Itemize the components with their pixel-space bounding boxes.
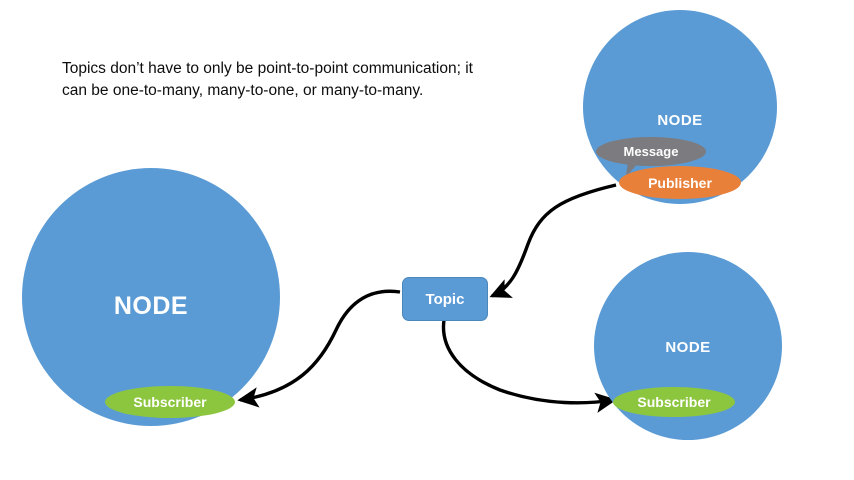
- node-bottom-right-label: NODE: [594, 339, 782, 356]
- subscriber-bottom-right[interactable]: Subscriber: [613, 387, 735, 417]
- node-left-label: NODE: [22, 292, 280, 321]
- subscriber-left[interactable]: Subscriber: [105, 386, 235, 418]
- node-top-right-label: NODE: [583, 112, 777, 129]
- topic-box[interactable]: Topic: [402, 277, 488, 321]
- arrow-publisher-to-topic: [492, 185, 616, 296]
- slide-canvas: Topics don’t have to only be point-to-po…: [0, 0, 854, 480]
- caption-text: Topics don’t have to only be point-to-po…: [62, 58, 482, 103]
- publisher-top-right[interactable]: Publisher: [619, 166, 741, 199]
- arrow-topic-to-bottom-right-subscriber: [443, 320, 614, 403]
- message-top-right[interactable]: Message: [596, 137, 706, 166]
